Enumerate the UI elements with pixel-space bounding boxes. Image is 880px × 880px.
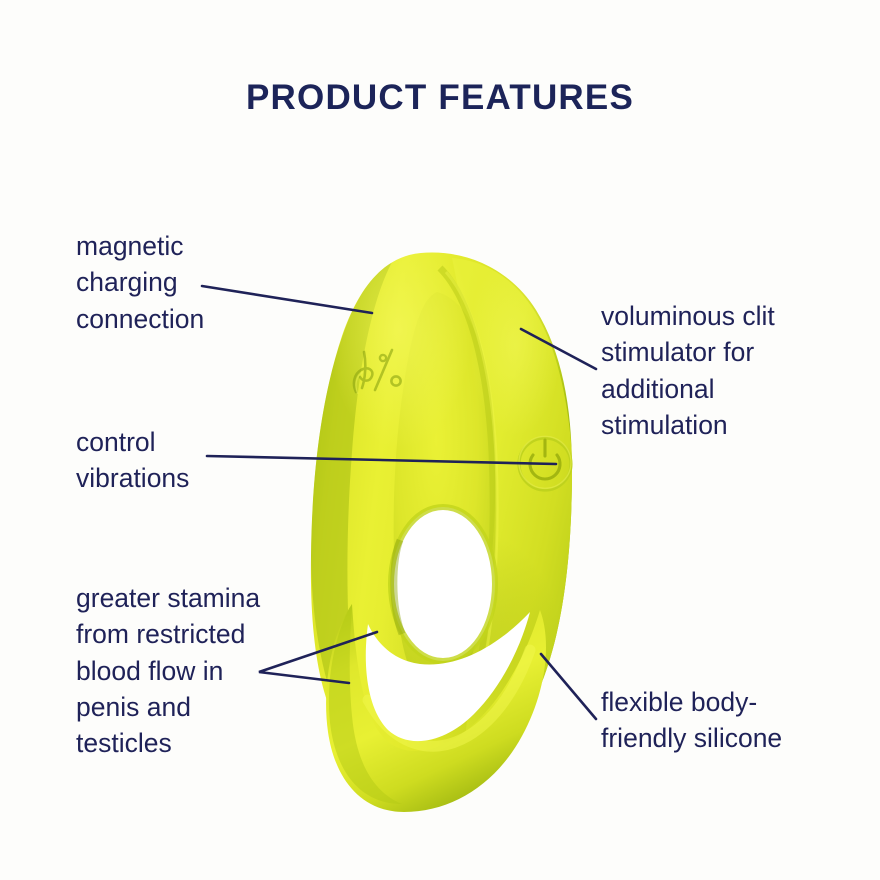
product-features-infographic: PRODUCT FEATURES magnetic charging conne… — [0, 0, 880, 880]
callout-flexible-silicone: flexible body- friendly silicone — [601, 684, 863, 757]
product-body — [311, 210, 573, 812]
callout-greater-stamina: greater stamina from restricted blood fl… — [76, 580, 326, 761]
upper-opening — [391, 507, 495, 661]
callout-control-vibrations: control vibrations — [76, 424, 326, 497]
page-title: PRODUCT FEATURES — [0, 78, 880, 118]
callout-magnetic-charging: magnetic charging connection — [76, 228, 326, 337]
callout-clit-stimulator: voluminous clit stimulator for additiona… — [601, 298, 863, 443]
